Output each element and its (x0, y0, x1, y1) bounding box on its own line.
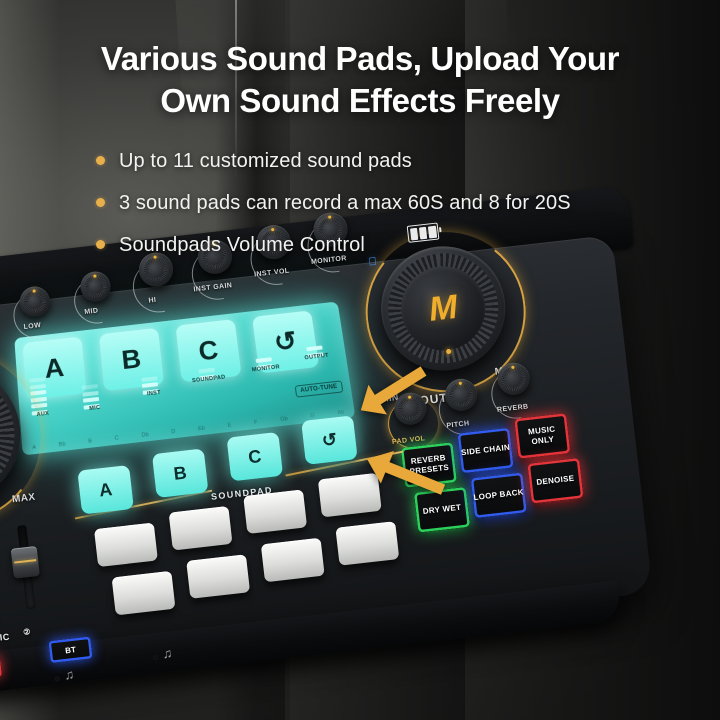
list-item: Soundpads Volume Control (96, 232, 571, 258)
note: Eb (198, 425, 205, 432)
mic-channel-2-label: ② (23, 627, 32, 637)
callout-arrow-lower (358, 440, 458, 510)
fader-handle-mic2[interactable] (11, 546, 40, 579)
soundpad-white-8[interactable] (335, 521, 399, 566)
list-item: Up to 11 customized sound pads (96, 148, 571, 174)
soundpad-glow-b[interactable]: B (152, 448, 209, 498)
soundpad-white-7[interactable] (261, 538, 325, 583)
note: E (227, 422, 231, 429)
soundpad-glow-loop[interactable]: ↺ (301, 415, 358, 465)
note: B (88, 438, 92, 445)
meter-label-monitor: MONITOR (245, 363, 288, 374)
button-music-only[interactable]: MUSIC ONLY (514, 413, 570, 459)
meter-label-output: OUTPUT (296, 352, 337, 362)
note: D (171, 429, 176, 436)
knob-label-hi: HI (148, 297, 157, 305)
bullet-text: Soundpads Volume Control (119, 232, 365, 258)
soundpad-white-5[interactable] (112, 571, 176, 616)
button-loop-back[interactable]: LOOP BACK (471, 472, 527, 518)
headline-line-2: Own Sound Effects Freely (0, 80, 720, 122)
list-item: 3 sound pads can record a max 60S and 8 … (96, 190, 571, 216)
headline-line-1: Various Sound Pads, Upload Your (0, 38, 720, 80)
soundpad-white-6[interactable] (186, 554, 250, 599)
soundpad-glow-a[interactable]: A (77, 465, 134, 515)
headphone-jack-icon-2: ♫ (162, 645, 173, 661)
note: Bb (59, 441, 66, 448)
feature-list: Up to 11 customized sound pads 3 sound p… (96, 148, 571, 274)
page-title: Various Sound Pads, Upload Your Own Soun… (0, 38, 720, 122)
note: Gb (280, 416, 288, 423)
soundpad-white-3[interactable] (243, 489, 307, 534)
promo-image-root: Various Sound Pads, Upload Your Own Soun… (0, 0, 720, 720)
note: Db (141, 432, 149, 439)
bullet-text: 3 sound pads can record a max 60S and 8 … (119, 190, 571, 216)
meter-label-soundpad: SOUNDPAD (186, 374, 232, 385)
button-side-chain[interactable]: SIDE CHAIN (457, 428, 513, 474)
bullet-dot-icon (96, 240, 105, 249)
callout-arrow-upper (352, 352, 442, 422)
soundpad-glow-c[interactable]: C (226, 432, 283, 482)
soundpad-white-1[interactable] (94, 523, 158, 568)
headphone-jack-icon-1: ♫ (63, 667, 74, 683)
brand-m-logo: M (427, 290, 459, 327)
bullet-text: Up to 11 customized sound pads (119, 148, 412, 174)
button-bt[interactable]: BT (48, 636, 92, 663)
button-denoise[interactable]: DENOISE (527, 458, 583, 504)
soundpad-white-2[interactable] (169, 506, 233, 551)
note: C (115, 435, 120, 442)
bullet-dot-icon (96, 156, 105, 165)
note: F (254, 419, 258, 425)
output-knob-indicator (445, 349, 451, 355)
bullet-dot-icon (96, 198, 105, 207)
